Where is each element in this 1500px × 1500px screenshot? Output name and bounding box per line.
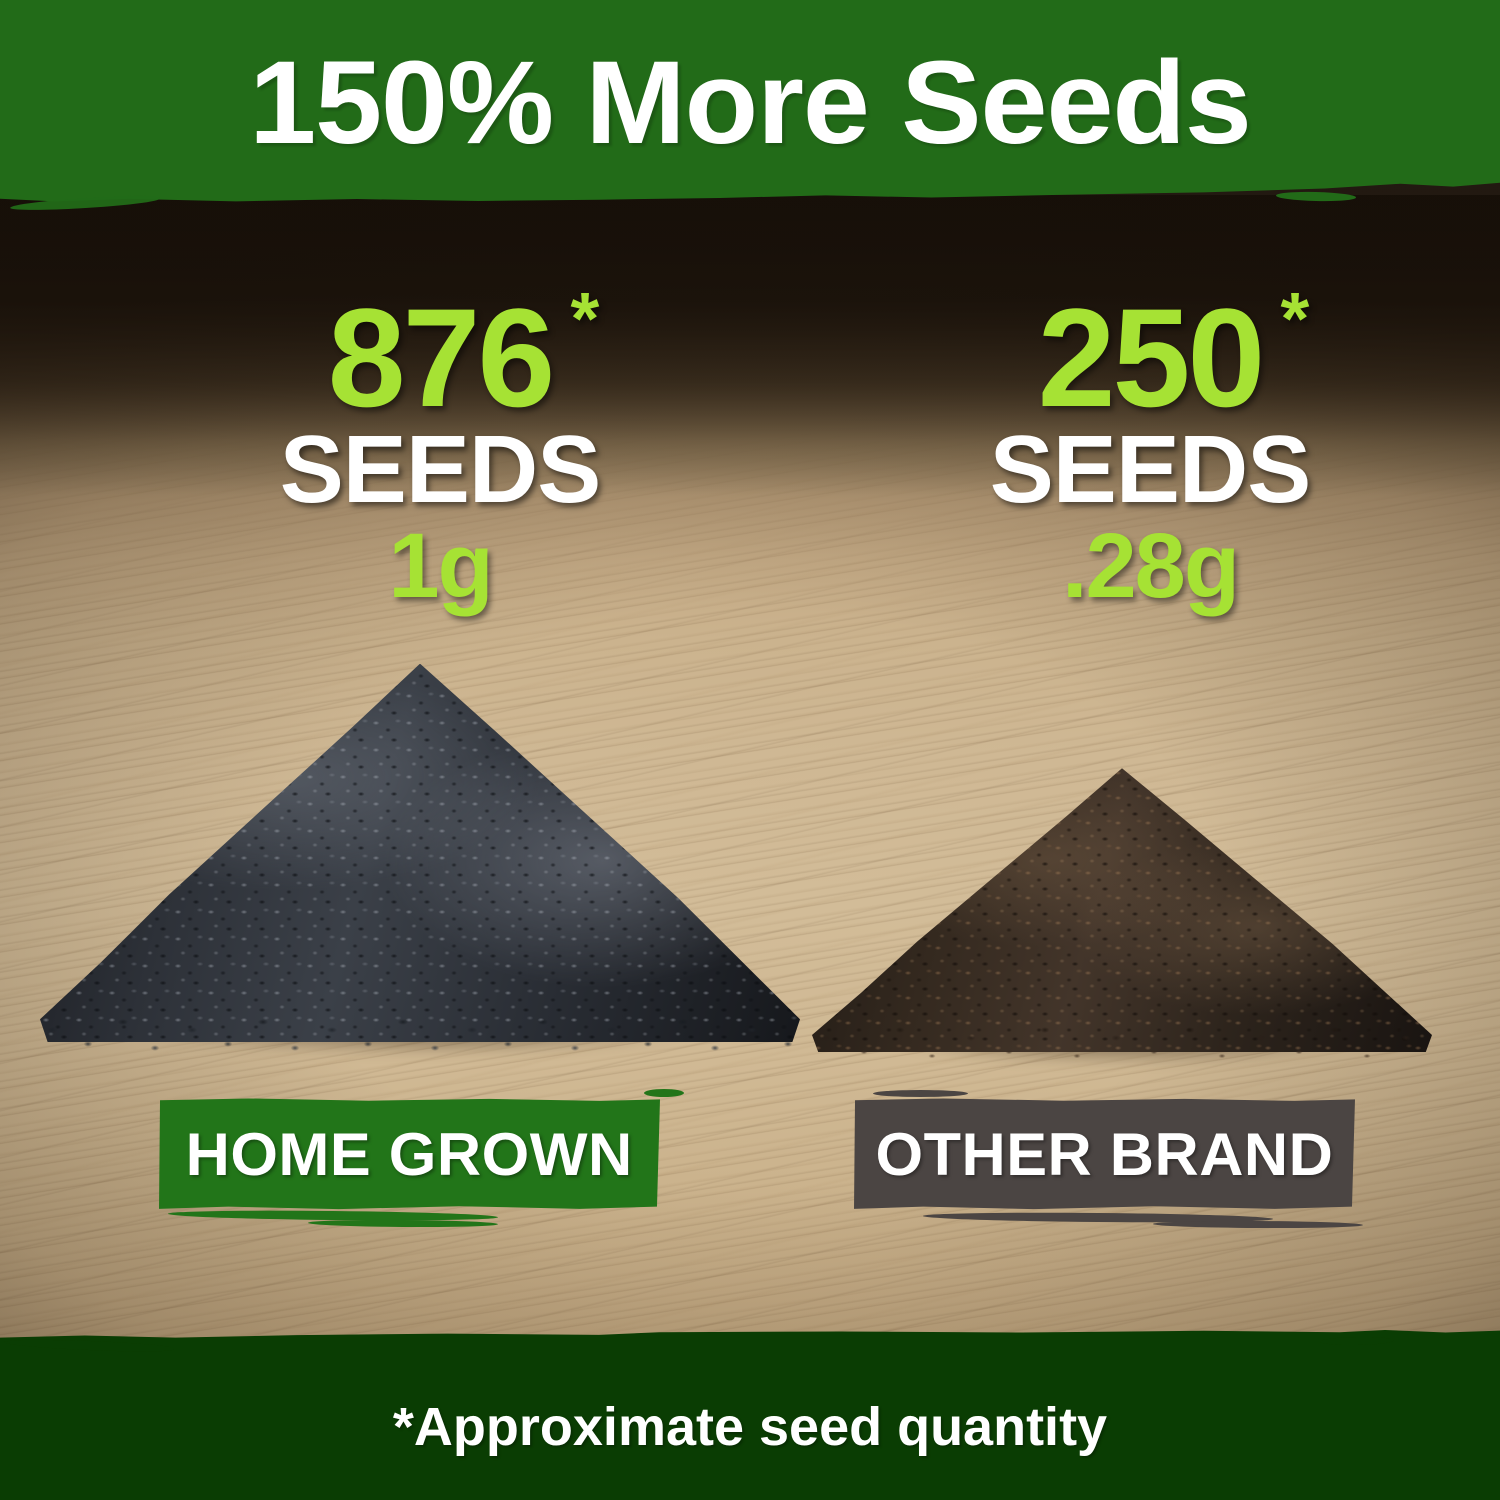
stat-block-other-brand: 250* SEEDS .28g: [870, 288, 1430, 612]
seed-count-value: 876: [328, 279, 553, 436]
seed-weight-other-brand: .28g: [870, 520, 1430, 612]
seed-count-value: 250: [1038, 279, 1263, 436]
badge-home-grown: HOME GROWN: [158, 1098, 660, 1210]
badge-other-brand: OTHER BRAND: [853, 1098, 1355, 1210]
pile-body: [812, 768, 1432, 1052]
loose-seeds: [812, 1018, 1432, 1078]
infographic-canvas: 150% More Seeds 876* SEEDS 1g 250* SEEDS…: [0, 0, 1500, 1500]
seed-count-home-grown: 876*: [328, 288, 553, 428]
seed-count-other-brand: 250*: [1038, 288, 1263, 428]
seed-pile-home-grown: [40, 628, 800, 1068]
page-title: 150% More Seeds: [0, 44, 1500, 162]
pile-cone: [812, 748, 1432, 1078]
loose-seeds: [40, 1008, 800, 1068]
asterisk-marker: *: [570, 282, 596, 356]
pile-body: [40, 664, 800, 1042]
badge-label-other-brand: OTHER BRAND: [875, 1120, 1333, 1189]
seed-weight-home-grown: 1g: [160, 520, 720, 612]
seed-unit-label-other-brand: SEEDS: [870, 422, 1430, 518]
seed-pile-other-brand: [812, 748, 1432, 1078]
asterisk-marker: *: [1280, 282, 1306, 356]
seed-texture: [40, 664, 800, 1042]
pile-cone: [40, 628, 800, 1068]
seed-texture: [812, 768, 1432, 1052]
badge-brush-streak-3: [644, 1089, 684, 1097]
badge-brush-streak-3: [873, 1090, 968, 1097]
stat-block-home-grown: 876* SEEDS 1g: [160, 288, 720, 612]
seed-unit-label-home-grown: SEEDS: [160, 422, 720, 518]
badge-label-home-grown: HOME GROWN: [185, 1120, 632, 1189]
footnote-disclaimer: *Approximate seed quantity: [0, 1396, 1500, 1458]
